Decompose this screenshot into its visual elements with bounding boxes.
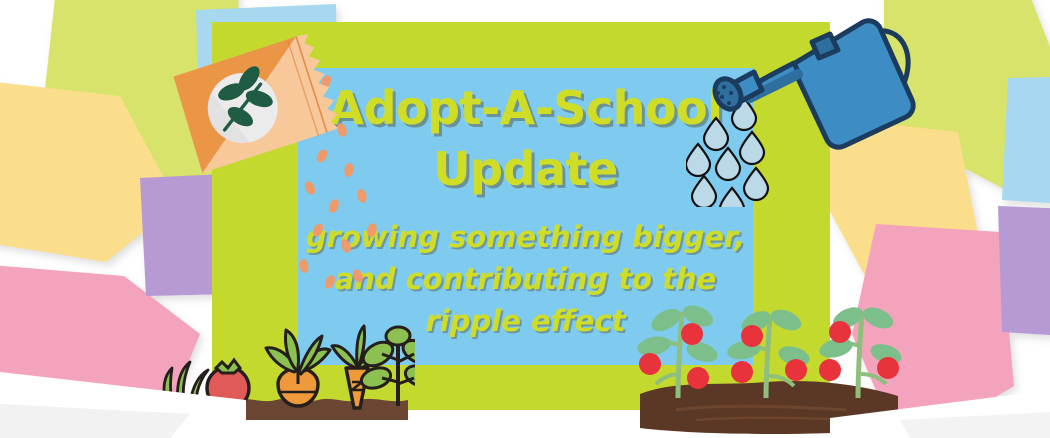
mosaic-tile-blue-r — [1002, 76, 1050, 206]
mosaic-tile-purple-r — [998, 206, 1050, 338]
blue-panel — [298, 68, 753, 365]
banner-root: Adopt-A-School Update growing something … — [0, 0, 1050, 438]
